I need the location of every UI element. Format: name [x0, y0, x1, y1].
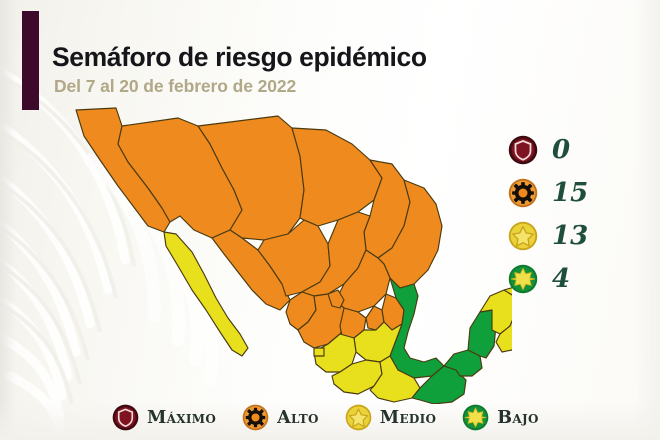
gear-icon — [508, 178, 538, 208]
semaforo-infographic: Semáforo de riesgo epidémico Del 7 al 20… — [0, 0, 660, 440]
star-icon — [345, 404, 372, 431]
legend-label-maximo: Máximo — [147, 408, 216, 428]
gear-icon — [242, 404, 269, 431]
legend-item-bajo: Bajo — [462, 404, 538, 431]
sun-icon — [462, 404, 489, 431]
sun-icon — [508, 264, 538, 294]
counter-row-alto: 15 — [508, 171, 648, 214]
counter-row-medio: 13 — [508, 214, 648, 257]
counter-value-medio: 13 — [552, 223, 588, 249]
mexico-risk-map: .st { stroke: #4a3a10; stroke-width: 1.1… — [52, 104, 512, 404]
legend-label-bajo: Bajo — [497, 408, 538, 428]
legend-label-alto: Alto — [277, 408, 319, 428]
date-range-subtitle: Del 7 al 20 de febrero de 2022 — [54, 76, 296, 97]
shield-icon — [112, 404, 139, 431]
counter-value-alto: 15 — [552, 180, 588, 206]
legend-item-medio: Medio — [345, 404, 437, 431]
risk-level-counters: 0 15 — [508, 128, 648, 300]
legend-item-maximo: Máximo — [112, 404, 216, 431]
counter-row-bajo: 4 — [508, 257, 648, 300]
counter-row-maximo: 0 — [508, 128, 648, 171]
counter-value-maximo: 0 — [552, 137, 570, 163]
legend-item-alto: Alto — [242, 404, 319, 431]
shield-icon — [508, 135, 538, 165]
background-edge-left — [0, 0, 16, 440]
counter-value-bajo: 4 — [552, 266, 570, 292]
title-accent-bar — [22, 11, 39, 110]
risk-legend: Máximo Alto — [112, 404, 565, 431]
star-icon — [508, 221, 538, 251]
legend-label-medio: Medio — [380, 408, 437, 428]
page-title: Semáforo de riesgo epidémico — [52, 42, 427, 73]
